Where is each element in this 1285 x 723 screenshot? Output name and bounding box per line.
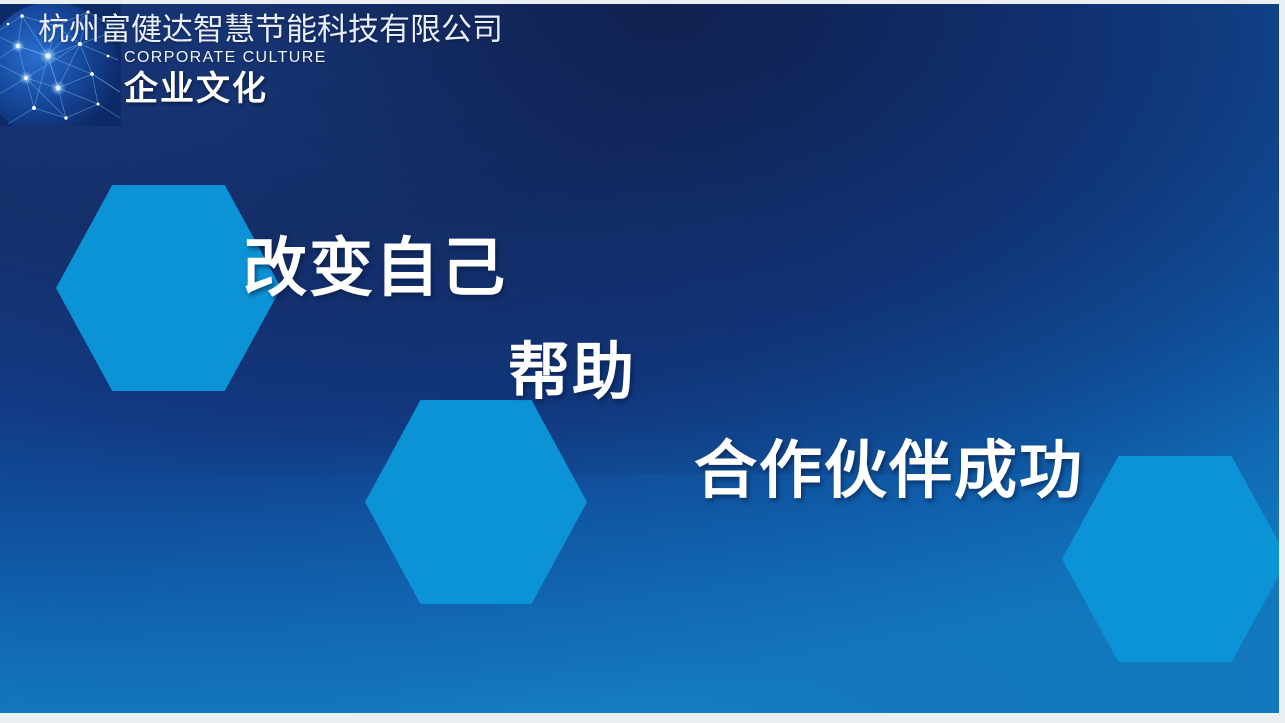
header-text-block: 杭州富健达智慧节能科技有限公司 CORPORATE CULTURE 企业文化 [38,12,558,110]
slide-frame-bottom [0,713,1285,723]
section-title-block: CORPORATE CULTURE 企业文化 [124,48,558,110]
slide-frame-right [1279,0,1285,723]
company-name: 杭州富健达智慧节能科技有限公司 [38,12,558,48]
slogan-line-2: 帮助 [508,337,636,409]
hexagon-shape-3 [1062,456,1279,662]
slide-canvas: 杭州富健达智慧节能科技有限公司 CORPORATE CULTURE 企业文化 改… [0,4,1279,713]
slide-frame-top [0,0,1285,4]
slogan-line-1: 改变自己 [243,231,507,305]
section-title-english: CORPORATE CULTURE [124,48,558,68]
hexagon-shape-2 [365,400,587,604]
slogan-line-3: 合作伙伴成功 [694,435,1084,508]
section-title-chinese: 企业文化 [124,68,558,110]
presentation-slide: 杭州富健达智慧节能科技有限公司 CORPORATE CULTURE 企业文化 改… [0,0,1285,723]
